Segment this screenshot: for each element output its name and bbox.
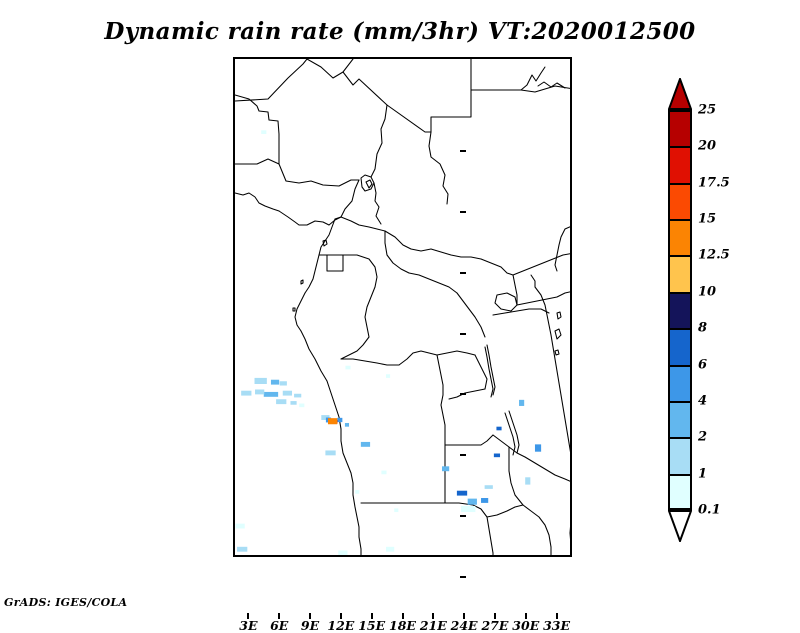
- precipitation-cell: [535, 444, 541, 451]
- grads-plot-canvas: Dynamic rain rate (mm/3hr) VT:2020012500: [0, 0, 800, 618]
- precipitation-cell: [345, 423, 349, 427]
- colorbar-label: 6: [698, 357, 707, 372]
- precipitation-cell: [261, 130, 266, 134]
- colorbar-label: 20: [698, 139, 716, 154]
- precipitation-cell: [255, 378, 267, 384]
- precipitation-cell: [519, 400, 524, 406]
- y-axis-tick: [460, 454, 466, 456]
- colorbar-label: 8: [698, 321, 707, 336]
- precipitation-cell: [394, 508, 398, 512]
- colorbar-label: 0.1: [698, 503, 721, 518]
- credit-label: GrADS: IGES/COLA: [4, 596, 127, 609]
- colorbar-label: 1: [698, 466, 707, 481]
- precipitation-cell: [494, 454, 500, 458]
- precipitation-cell: [237, 547, 247, 552]
- precipitation-cell: [442, 466, 449, 471]
- x-axis-label: 6E: [270, 618, 288, 633]
- x-axis-label: 18E: [389, 618, 416, 633]
- precipitation-cell: [241, 391, 251, 396]
- y-axis-tick: [460, 272, 466, 274]
- colorbar-band: [668, 146, 692, 182]
- x-axis-label: 3E: [239, 618, 257, 633]
- precipitation-field-svg: [235, 59, 572, 557]
- colorbar-band: [668, 474, 692, 510]
- x-axis-label: 15E: [358, 618, 385, 633]
- precipitation-cell: [381, 471, 386, 475]
- precipitation-cell: [294, 394, 301, 398]
- map-plot-area: 20N15N10N5NEQ5S10S15S 3E6E9E12E15E18E21E…: [233, 57, 572, 557]
- precipitation-cell: [338, 550, 347, 555]
- colorbar-label: 4: [698, 393, 707, 408]
- precipitation-cell: [280, 381, 287, 385]
- precipitation-cell: [328, 418, 337, 424]
- colorbar-band: [668, 292, 692, 328]
- precipitation-cell: [283, 391, 292, 396]
- precipitation-cell: [481, 498, 488, 503]
- map-frame: [233, 57, 572, 557]
- precipitation-cell: [325, 450, 335, 455]
- x-axis-label: 33E: [543, 618, 570, 633]
- x-axis-label: 30E: [512, 618, 539, 633]
- precipitation-cell: [337, 418, 342, 422]
- colorbar-bottom-arrow: [668, 510, 692, 542]
- page-title: Dynamic rain rate (mm/3hr) VT:2020012500: [0, 18, 800, 45]
- colorbar-label: 17.5: [698, 175, 730, 190]
- precipitation-cell: [355, 490, 359, 494]
- precipitation-cell: [255, 389, 264, 394]
- y-axis-tick: [460, 333, 466, 335]
- colorbar-band: [668, 328, 692, 364]
- colorbar-band: [668, 110, 692, 146]
- colorbar-label: 10: [698, 284, 716, 299]
- y-axis-tick: [460, 576, 466, 578]
- colorbar-band: [668, 219, 692, 255]
- colorbar-band: [668, 255, 692, 291]
- colorbar-band: [668, 365, 692, 401]
- y-axis-tick: [460, 515, 466, 517]
- precipitation-cell: [386, 547, 394, 552]
- x-axis-label: 24E: [451, 618, 478, 633]
- x-axis-label: 27E: [481, 618, 508, 633]
- colorbar: 0.1124681012.51517.52025: [668, 78, 692, 542]
- colorbar-top-arrow: [668, 78, 692, 110]
- x-axis-label: 12E: [327, 618, 354, 633]
- precipitation-cell: [525, 477, 530, 484]
- precipitation-cell: [386, 374, 390, 378]
- x-axis-label: 9E: [301, 618, 319, 633]
- precipitation-cell: [271, 380, 279, 385]
- precipitation-cell: [276, 399, 286, 404]
- y-axis-tick: [460, 211, 466, 213]
- colorbar-label: 12.5: [698, 248, 730, 263]
- precipitation-cell: [264, 392, 278, 397]
- precipitation-cell: [468, 499, 477, 505]
- precipitation-cell: [485, 485, 493, 489]
- precipitation-cell: [361, 442, 370, 447]
- precipitation-cell: [496, 427, 501, 431]
- y-axis-tick: [460, 150, 466, 152]
- colorbar-label: 15: [698, 212, 716, 227]
- precipitation-cell: [299, 404, 304, 408]
- precipitation-cell: [457, 491, 467, 496]
- y-axis-tick: [460, 393, 466, 395]
- x-axis-label: 21E: [420, 618, 447, 633]
- colorbar-band: [668, 183, 692, 219]
- precipitation-cell: [461, 506, 475, 512]
- colorbar-label: 2: [698, 430, 707, 445]
- precipitation-cell: [236, 524, 245, 529]
- colorbar-label: 25: [698, 103, 716, 118]
- colorbar-band: [668, 437, 692, 473]
- colorbar-band: [668, 401, 692, 437]
- precipitation-cell: [345, 366, 350, 370]
- precipitation-cell: [290, 401, 296, 405]
